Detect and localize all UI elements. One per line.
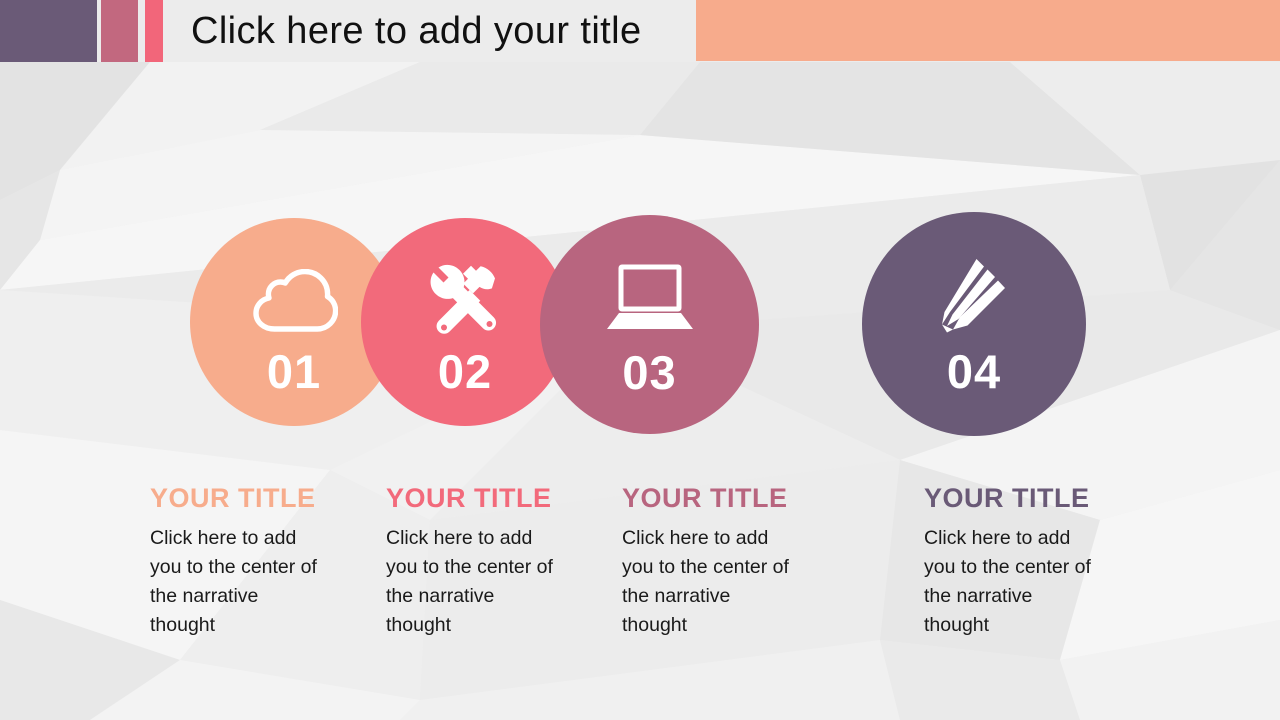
step-number-02: 02 <box>361 348 569 395</box>
step-title-01[interactable]: YOUR TITLE <box>150 484 355 512</box>
step-body-03[interactable]: Click here to add you to the center of t… <box>622 524 794 640</box>
step-circle-03[interactable]: 03 <box>540 215 759 434</box>
step-body-04[interactable]: Click here to add you to the center of t… <box>924 524 1102 640</box>
laptop-icon <box>605 263 695 335</box>
pencil-icon-wrap <box>862 254 1086 338</box>
step-text-column-03: YOUR TITLE Click here to add you to the … <box>622 484 827 640</box>
step-circle-04[interactable]: 04 <box>862 212 1086 436</box>
step-text-column-02: YOUR TITLE Click here to add you to the … <box>386 484 591 640</box>
header-bar-pink <box>145 0 163 62</box>
step-text-column-01: YOUR TITLE Click here to add you to the … <box>150 484 355 640</box>
step-title-02[interactable]: YOUR TITLE <box>386 484 591 512</box>
header-bar-mauve <box>101 0 138 62</box>
header-bar-purple <box>0 0 97 62</box>
step-body-01[interactable]: Click here to add you to the center of t… <box>150 524 322 640</box>
pencil-edit-icon <box>932 256 1016 336</box>
step-title-04[interactable]: YOUR TITLE <box>924 484 1129 512</box>
laptop-icon-wrap <box>540 259 759 339</box>
tools-hammer-wrench-icon <box>426 262 504 340</box>
step-number-04: 04 <box>862 348 1086 395</box>
step-body-02[interactable]: Click here to add you to the center of t… <box>386 524 558 640</box>
slide-title[interactable]: Click here to add your title <box>191 0 642 62</box>
step-title-03[interactable]: YOUR TITLE <box>622 484 827 512</box>
step-circle-02[interactable]: 02 <box>361 218 569 426</box>
step-text-column-04: YOUR TITLE Click here to add you to the … <box>924 484 1129 640</box>
step-number-03: 03 <box>540 349 759 396</box>
tools-icon-wrap <box>361 262 569 340</box>
cloud-icon <box>250 269 338 333</box>
header-bar-orange <box>696 0 1280 61</box>
slide-canvas: Click here to add your title 01 <box>0 0 1280 720</box>
